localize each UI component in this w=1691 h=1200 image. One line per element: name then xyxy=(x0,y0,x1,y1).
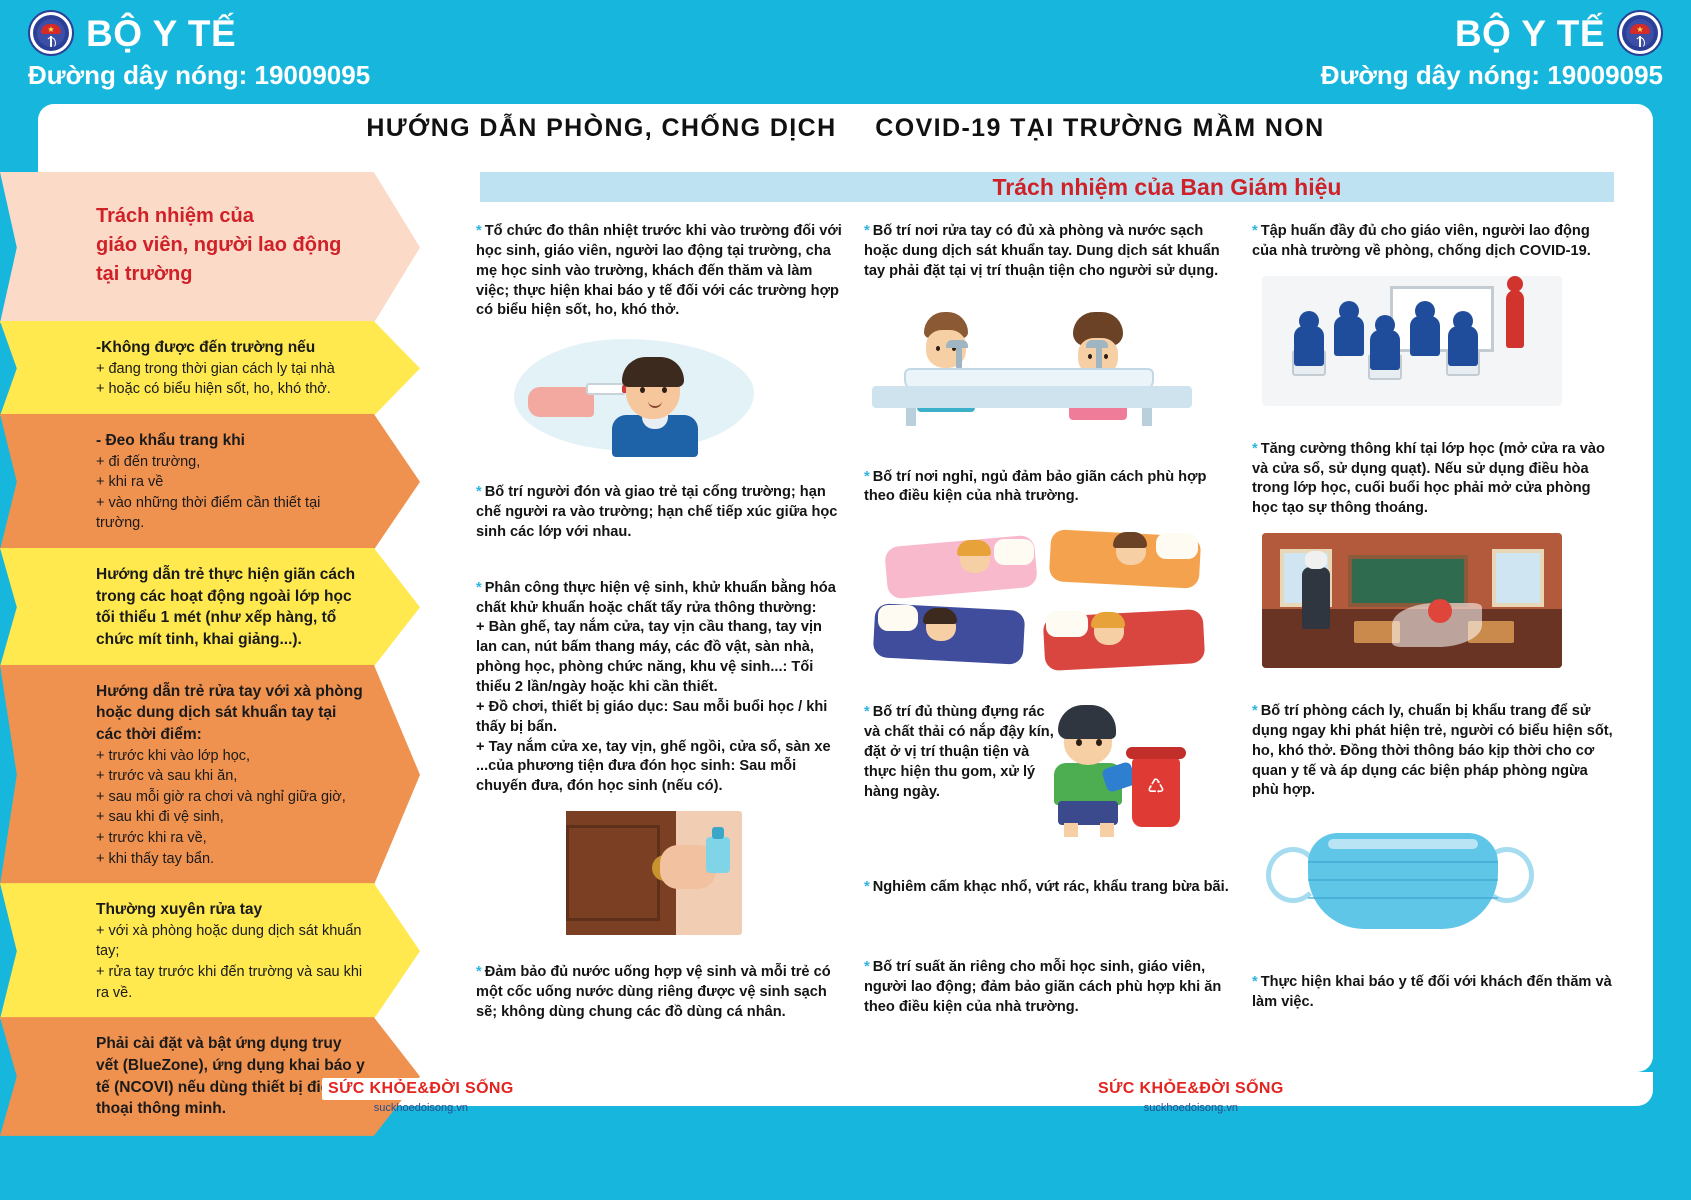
left-panel-item-2-line-2: + khi ra về xyxy=(96,472,366,493)
page-title-part2: COVID-19 TẠI TRƯỜNG MẦM NON xyxy=(875,114,1324,142)
c3-item-2: *Tăng cường thông khí tại lớp học (mở cử… xyxy=(1252,440,1618,519)
bullet-star-icon: * xyxy=(864,879,870,895)
c3-item-1: *Tập huấn đầy đủ cho giáo viên, người la… xyxy=(1252,222,1618,262)
illustration-medical-face-mask xyxy=(1252,815,1618,945)
ministry-name-row-left: ★ BỘ Y TẾ xyxy=(28,10,370,56)
publisher-logo-left-name: SỨC KHỎE&ĐỜI SỐNG xyxy=(322,1078,520,1100)
left-panel-item-4: Hướng dẫn trẻ rửa tay với xà phòng hoặc … xyxy=(0,665,420,886)
bullet-star-icon: * xyxy=(476,223,482,239)
c3-item-4: *Thực hiện khai báo y tế đối với khách đ… xyxy=(1252,973,1618,1013)
left-panel-title-line-3: tại trường xyxy=(96,260,366,289)
left-panel-item-4-line-1: + trước khi vào lớp học, xyxy=(96,746,366,767)
left-panel-item-5-line-1: + với xà phòng hoặc dung dịch sát khuẩn … xyxy=(96,921,366,962)
bullet-star-icon: * xyxy=(864,469,870,485)
ministry-of-health-emblem-icon-right: ★ xyxy=(1617,10,1663,56)
left-panel-title-line-1: Trách nhiệm của xyxy=(96,202,366,231)
c1-item-1: *Tổ chức đo thân nhiệt trước khi vào trư… xyxy=(476,222,842,321)
illustration-thermometer-temperature-check xyxy=(476,335,842,455)
c2-item-2: *Bố trí nơi nghỉ, ngủ đảm bảo giãn cách … xyxy=(864,468,1230,508)
illustration-hand-sanitizer-door-handle xyxy=(530,811,742,935)
left-panel-title-line-2: giáo viên, người lao động xyxy=(96,231,366,260)
section-banner-title: Trách nhiệm của Ban Giám hiệu xyxy=(993,174,1342,201)
left-panel-item-4-line-5: + trước khi ra về, xyxy=(96,828,366,849)
main-columns: *Tổ chức đo thân nhiệt trước khi vào trư… xyxy=(476,222,1636,1062)
section-banner: Trách nhiệm của Ban Giám hiệu xyxy=(480,172,1614,202)
c2-item-4: *Nghiêm cấm khạc nhổ, vứt rác, khẩu tran… xyxy=(864,878,1230,898)
c2-item-5: *Bố trí suất ăn riêng cho mỗi học sinh, … xyxy=(864,958,1230,1018)
left-panel-item-4-heading: Hướng dẫn trẻ rửa tay với xà phòng hoặc … xyxy=(96,681,366,746)
bullet-star-icon: * xyxy=(864,223,870,239)
c2-item-2-text: Bố trí nơi nghỉ, ngủ đảm bảo giãn cách p… xyxy=(864,469,1206,505)
infographic-poster: ★ BỘ Y TẾ Đường dây nóng: 19009095 BỘ Y … xyxy=(0,0,1691,1200)
top-bar: ★ BỘ Y TẾ Đường dây nóng: 19009095 BỘ Y … xyxy=(0,0,1691,100)
footer: SỨC KHỎE&ĐỜI SỐNG suckhoedoisong.vn SỨC … xyxy=(0,1078,1691,1138)
c2-item-3-text: Bố trí đủ thùng đựng rác và chất thải có… xyxy=(864,704,1054,799)
left-panel-item-5-line-2: + rửa tay trước khi đến trường và sau kh… xyxy=(96,962,366,1003)
ministry-name-row-right: BỘ Y TẾ ★ xyxy=(1455,10,1663,56)
c2-item-1: *Bố trí nơi rửa tay có đủ xà phòng và nư… xyxy=(864,222,1230,282)
hotline-right: Đường dây nóng: 19009095 xyxy=(1321,61,1663,90)
left-panel-item-4-line-4: + sau khi đi vệ sinh, xyxy=(96,807,366,828)
c2-item-1-text: Bố trí nơi rửa tay có đủ xà phòng và nướ… xyxy=(864,223,1220,279)
ministry-name-right: BỘ Y TẾ xyxy=(1455,15,1605,52)
bullet-star-icon: * xyxy=(864,959,870,975)
left-panel-item-1-heading: -Không được đến trường nếu xyxy=(96,337,366,359)
c1-item-1-text: Tổ chức đo thân nhiệt trước khi vào trườ… xyxy=(476,223,842,318)
ministry-of-health-emblem-icon: ★ xyxy=(28,10,74,56)
c3-item-3-text: Bố trí phòng cách ly, chuẩn bị khẩu tran… xyxy=(1252,703,1613,798)
column-3: *Tập huấn đầy đủ cho giáo viên, người la… xyxy=(1252,222,1618,1062)
left-panel-item-1: -Không được đến trường nếu + đang trong … xyxy=(0,321,420,416)
column-1: *Tổ chức đo thân nhiệt trước khi vào trư… xyxy=(476,222,842,1062)
ministry-name-left: BỘ Y TẾ xyxy=(86,15,236,52)
ministry-block-right: BỘ Y TẾ ★ Đường dây nóng: 19009095 xyxy=(1321,10,1663,90)
bullet-star-icon: * xyxy=(1252,974,1258,990)
hotline-left: Đường dây nóng: 19009095 xyxy=(28,61,370,90)
illustration-training-session-classroom xyxy=(1262,276,1562,406)
left-panel-item-2-heading: - Đeo khẩu trang khi xyxy=(96,430,366,452)
left-panel-item-4-line-3: + sau mỗi giờ ra chơi và nghỉ giữa giờ, xyxy=(96,787,366,808)
bullet-star-icon: * xyxy=(1252,441,1258,457)
left-panel-item-5-heading: Thường xuyên rửa tay xyxy=(96,899,366,921)
publisher-logo-left: SỨC KHỎE&ĐỜI SỐNG suckhoedoisong.vn xyxy=(322,1078,520,1114)
publisher-logo-left-url: suckhoedoisong.vn xyxy=(322,1102,520,1114)
bullet-star-icon: * xyxy=(476,580,482,596)
illustration-children-sleeping-mats xyxy=(864,521,1230,681)
column-2: *Bố trí nơi rửa tay có đủ xà phòng và nư… xyxy=(864,222,1230,1062)
illustration-children-washing-hands-sink xyxy=(864,296,1230,426)
c1-item-2: *Bố trí người đón và giao trẻ tại cổng t… xyxy=(476,483,842,543)
c3-item-2-text: Tăng cường thông khí tại lớp học (mở cửa… xyxy=(1252,441,1605,517)
c2-item-3: *Bố trí đủ thùng đựng rác và chất thải c… xyxy=(864,703,1230,802)
publisher-logo-right: SỨC KHỎE&ĐỜI SỐNG suckhoedoisong.vn xyxy=(1092,1078,1290,1114)
page-title: HƯỚNG DẪN PHÒNG, CHỐNG DỊCH COVID-19 TẠI… xyxy=(38,114,1653,143)
left-panel-item-5: Thường xuyên rửa tay + với xà phòng hoặc… xyxy=(0,883,420,1019)
bullet-star-icon: * xyxy=(1252,223,1258,239)
c3-item-3: *Bố trí phòng cách ly, chuẩn bị khẩu tra… xyxy=(1252,702,1618,801)
c1-item-3-line-1: + Bàn ghế, tay nắm cửa, tay vịn cầu than… xyxy=(476,618,842,697)
c1-item-3: *Phân công thực hiện vệ sinh, khử khuẩn … xyxy=(476,579,842,797)
c1-item-4-text: Đảm bảo đủ nước uống hợp vệ sinh và mỗi … xyxy=(476,964,831,1020)
c1-item-3-heading: Phân công thực hiện vệ sinh, khử khuẩn b… xyxy=(476,580,836,616)
bullet-star-icon: * xyxy=(476,964,482,980)
publisher-logo-right-url: suckhoedoisong.vn xyxy=(1092,1102,1290,1114)
left-panel-item-2: - Đeo khẩu trang khi + đi đến trường, + … xyxy=(0,414,420,550)
left-panel-item-1-line-2: + hoặc có biểu hiện sốt, ho, khó thở. xyxy=(96,379,366,400)
left-panel-item-2-line-3: + vào những thời điểm cần thiết tại trườ… xyxy=(96,493,366,534)
left-panel-item-1-line-1: + đang trong thời gian cách ly tại nhà xyxy=(96,359,366,380)
c1-item-4: *Đảm bảo đủ nước uống hợp vệ sinh và mỗi… xyxy=(476,963,842,1023)
c2-item-4-text: Nghiêm cấm khạc nhổ, vứt rác, khẩu trang… xyxy=(873,879,1229,895)
bottom-strip xyxy=(0,1138,1691,1200)
page-title-part1: HƯỚNG DẪN PHÒNG, CHỐNG DỊCH xyxy=(366,114,836,142)
bullet-star-icon: * xyxy=(864,704,870,720)
bullet-star-icon: * xyxy=(1252,703,1258,719)
c1-item-2-text: Bố trí người đón và giao trẻ tại cổng tr… xyxy=(476,484,837,540)
left-panel-item-2-line-1: + đi đến trường, xyxy=(96,452,366,473)
c1-item-3-line-2: + Đồ chơi, thiết bị giáo dục: Sau mỗi bu… xyxy=(476,698,842,738)
publisher-logo-right-name: SỨC KHỎE&ĐỜI SỐNG xyxy=(1092,1078,1290,1100)
illustration-classroom-disinfection-spraying xyxy=(1262,533,1562,668)
left-responsibilities-panel: Trách nhiệm của giáo viên, người lao độn… xyxy=(0,172,420,1134)
left-panel-item-4-line-2: + trước và sau khi ăn, xyxy=(96,766,366,787)
c2-item-5-text: Bố trí suất ăn riêng cho mỗi học sinh, g… xyxy=(864,959,1221,1015)
left-panel-item-4-line-6: + khi thấy tay bẩn. xyxy=(96,849,366,870)
left-panel-item-3: Hướng dẫn trẻ thực hiện giãn cách trong … xyxy=(0,548,420,667)
left-panel-title-chevron: Trách nhiệm của giáo viên, người lao độn… xyxy=(0,172,420,323)
c1-item-3-line-3: + Tay nắm cửa xe, tay vịn, ghế ngồi, cửa… xyxy=(476,738,842,798)
c3-item-4-text: Thực hiện khai báo y tế đối với khách đế… xyxy=(1252,974,1612,1010)
left-panel-item-3-heading: Hướng dẫn trẻ thực hiện giãn cách trong … xyxy=(96,564,366,651)
c3-item-1-text: Tập huấn đầy đủ cho giáo viên, người lao… xyxy=(1252,223,1591,259)
illustration-boy-throwing-trash-recycle-bin: ♺ xyxy=(1042,701,1222,841)
ministry-block-left: ★ BỘ Y TẾ Đường dây nóng: 19009095 xyxy=(28,10,370,90)
bullet-star-icon: * xyxy=(476,484,482,500)
